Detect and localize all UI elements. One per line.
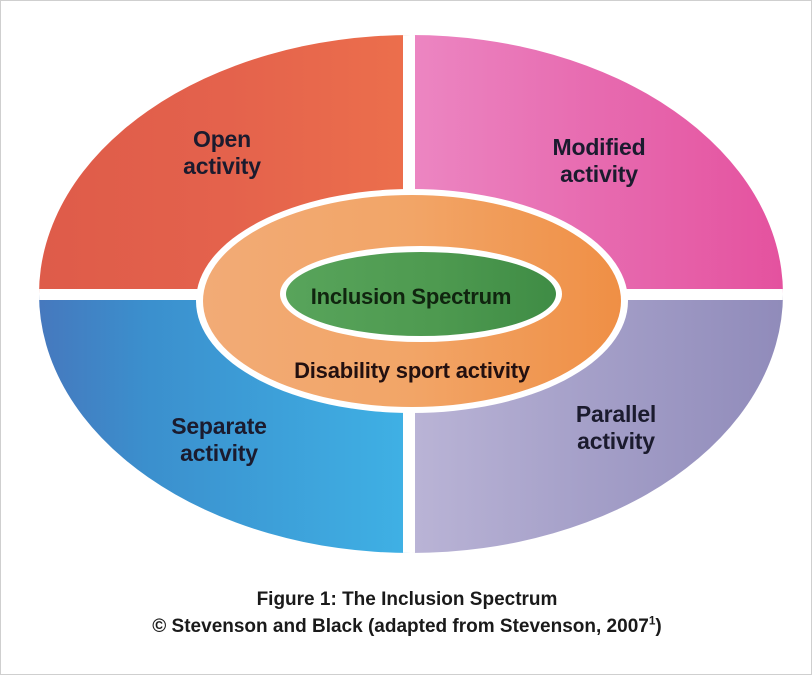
ellipse-inclusion-spectrum[interactable] [286, 252, 556, 336]
caption-credit-suffix: ) [655, 616, 661, 637]
caption-credit-text: © Stevenson and Black (adapted from Stev… [152, 616, 649, 637]
diagram-canvas [1, 1, 812, 571]
caption-line-credit: © Stevenson and Black (adapted from Stev… [1, 614, 812, 641]
figure-page: Open activity Modified activity Separate… [0, 0, 812, 675]
inclusion-spectrum-diagram: Open activity Modified activity Separate… [1, 1, 812, 571]
figure-caption: Figure 1: The Inclusion Spectrum © Steve… [1, 587, 812, 641]
caption-line-title: Figure 1: The Inclusion Spectrum [1, 587, 812, 614]
